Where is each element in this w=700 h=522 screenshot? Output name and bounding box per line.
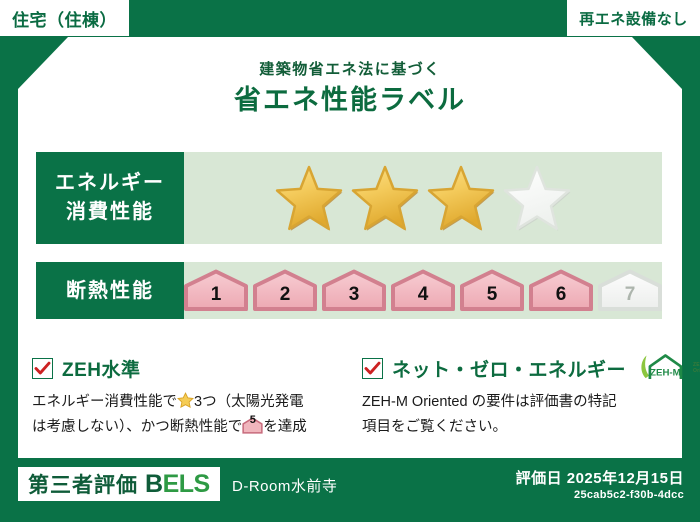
- header-title-block: 建築物省エネ法に基づく 省エネ性能ラベル: [0, 60, 700, 118]
- insulation-level-number: 3: [349, 285, 360, 313]
- insulation-level-filled: 2: [252, 269, 318, 313]
- bels-wordmark: BELS: [145, 470, 210, 499]
- criteria-left-text-4: を達成: [263, 419, 307, 435]
- star-filled-icon: [274, 165, 344, 232]
- insulation-level-number: 2: [280, 285, 291, 313]
- zeh-m-house-icon: ZEH-M: [639, 353, 691, 383]
- insulation-level-filled: 1: [183, 269, 249, 313]
- energy-performance-label: 住宅（住棟） 再エネ設備なし 建築物省エネ法に基づく 省エネ性能ラベル エネルギ…: [0, 0, 700, 522]
- footer: 第三者評価 BELS D-Room水前寺 評価日 2025年12月15日 25c…: [0, 458, 700, 522]
- header-subtitle: 建築物省エネ法に基づく: [0, 60, 700, 80]
- criteria-right-text-line1: ZEH-M Oriented の要件は評価書の特記: [362, 394, 617, 410]
- svg-text:ZEH-M: ZEH-M: [650, 368, 680, 379]
- evaluation-id: 25cab5c2-f30b-4dcc: [574, 489, 684, 501]
- insulation-level-filled: 5: [459, 269, 525, 313]
- criteria-left-title: ZEH水準: [62, 355, 141, 382]
- star-icon: [177, 392, 194, 408]
- bels-badge: 第三者評価 BELS: [18, 467, 220, 501]
- criteria-left-text-3: は考慮しない）、かつ断熱性能で: [32, 419, 242, 435]
- evaluation-date: 評価日 2025年12月15日: [516, 467, 684, 488]
- insulation-level-badge-value: 5: [242, 417, 263, 434]
- checkmark-icon: [362, 358, 383, 379]
- tag-building-type: 住宅（住棟）: [0, 0, 130, 37]
- bels-letters-els: ELS: [163, 470, 210, 498]
- insulation-level-number: 6: [556, 285, 567, 313]
- insulation-level-badge: 5: [242, 417, 263, 434]
- insulation-level-number: 5: [487, 285, 498, 313]
- star-rating-panel: [184, 152, 662, 244]
- criteria-left-text-1: エネルギー消費性能で: [32, 394, 177, 410]
- tag-renewable-energy: 再エネ設備なし: [566, 0, 700, 37]
- checkmark-icon: [32, 358, 53, 379]
- star-filled-icon: [350, 165, 420, 232]
- building-name: D-Room水前寺: [232, 475, 337, 496]
- criteria-left-body: エネルギー消費性能で 3つ（太陽光発電は考慮しない）、かつ断熱性能で 5 を達成: [32, 390, 342, 440]
- insulation-level-number: 1: [211, 285, 222, 313]
- bels-letter-b: B: [145, 470, 163, 498]
- insulation-level-filled: 3: [321, 269, 387, 313]
- insulation-performance-label: 断熱性能: [36, 262, 184, 319]
- criteria-left-header: ZEH水準: [32, 355, 342, 381]
- criteria-right-text-line2: 項目をご覧ください。: [362, 419, 507, 435]
- insulation-level-number: 7: [625, 285, 636, 313]
- criteria-right-header: ネット・ゼロ・エネルギー ZEH-M ZEH-M Oriented: [362, 355, 672, 381]
- star-empty-icon: [502, 165, 572, 232]
- energy-label-line2: 消費性能: [66, 198, 154, 227]
- zeh-m-caption-line2: Oriented: [693, 368, 700, 374]
- insulation-scale-panel: 1234567: [184, 262, 662, 319]
- zeh-m-logo-caption: ZEH-M Oriented: [693, 362, 700, 374]
- energy-performance-row: エネルギー 消費性能: [36, 152, 662, 244]
- insulation-label-line1: 断熱性能: [66, 278, 154, 304]
- insulation-level-filled: 6: [528, 269, 594, 313]
- insulation-level-empty: 7: [597, 269, 663, 313]
- criteria-right-body: ZEH-M Oriented の要件は評価書の特記 項目をご覧ください。: [362, 390, 672, 440]
- criteria-right-title: ネット・ゼロ・エネルギー: [392, 355, 626, 382]
- header-title: 省エネ性能ラベル: [0, 82, 700, 118]
- insulation-level-number: 4: [418, 285, 429, 313]
- energy-performance-label: エネルギー 消費性能: [36, 152, 184, 244]
- criteria-net-zero-energy: ネット・ゼロ・エネルギー ZEH-M ZEH-M Oriented ZEH-M …: [362, 355, 672, 440]
- criteria-zeh-standard: ZEH水準 エネルギー消費性能で 3つ（太陽光発電は考慮しない）、かつ断熱性能で…: [32, 355, 342, 440]
- insulation-performance-row: 断熱性能 1234567: [36, 262, 662, 319]
- energy-label-line1: エネルギー: [55, 169, 165, 198]
- zeh-m-logo: ZEH-M ZEH-M Oriented: [639, 353, 700, 383]
- star-filled-icon: [426, 165, 496, 232]
- insulation-level-filled: 4: [390, 269, 456, 313]
- bels-third-party-label: 第三者評価: [28, 469, 138, 499]
